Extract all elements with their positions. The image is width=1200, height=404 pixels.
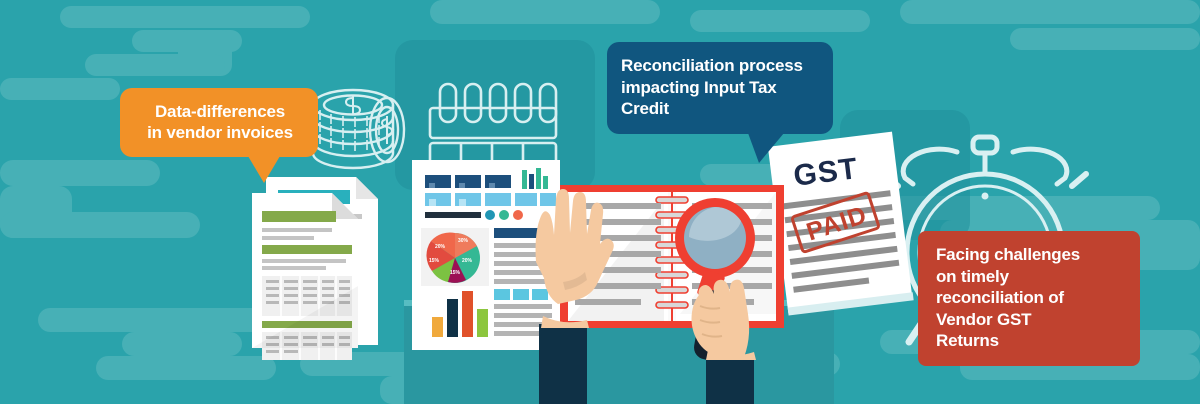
illustration-banner: 30% 20% 15% 15% 20% bbox=[0, 0, 1200, 404]
callout-reconciliation-itc-text: Reconciliation process impacting Input T… bbox=[621, 55, 819, 120]
callout-vendor-gst-returns[interactable]: Facing challenges on timely reconciliati… bbox=[918, 231, 1140, 366]
callout-tail-down-orange bbox=[248, 156, 280, 183]
callout-reconciliation-itc[interactable]: Reconciliation process impacting Input T… bbox=[607, 42, 833, 134]
callout-data-differences[interactable]: Data-differences in vendor invoices bbox=[120, 88, 318, 157]
callout-data-differences-text: Data-differences in vendor invoices bbox=[136, 101, 304, 144]
callout-vendor-gst-returns-text: Facing challenges on timely reconciliati… bbox=[936, 244, 1124, 352]
callout-tail-down-blue bbox=[748, 133, 784, 163]
